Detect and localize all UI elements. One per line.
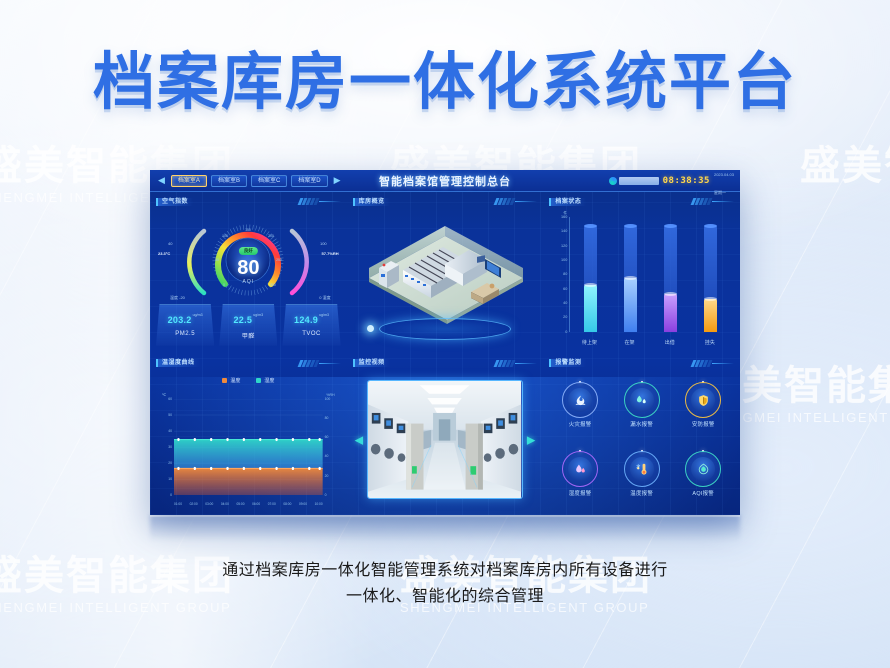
x-tick: 08:00 [283, 502, 291, 506]
temp-scale-top: 40 [168, 241, 172, 246]
humidity-readout: 57.7%RH [322, 251, 339, 256]
dashboard-topbar: ◀ 档案室A 档案室B 档案室C 档案室D ▶ 智能档案馆管理控制总台 08:3… [150, 170, 740, 192]
tab-room-c[interactable]: 档案室C [251, 175, 287, 187]
panel-header: 报警监测 [549, 358, 734, 369]
panel-body: ◀ [353, 371, 538, 510]
svg-text:50: 50 [215, 258, 219, 262]
hum-scale-top: 100 [320, 241, 327, 246]
y-tick: 20 [551, 315, 567, 319]
alarm-ring [562, 382, 598, 418]
bar-fill [704, 299, 717, 332]
alarm-label: 湿度报警 [569, 489, 592, 497]
watermark: 盛美智能集团 [800, 146, 890, 186]
bar-fill [664, 294, 677, 332]
topbar-right: 08:38:35 2023.04.03 星期一 [609, 170, 740, 199]
bar-column[interactable] [624, 217, 637, 332]
alarm-item-security[interactable]: 安防报警 [685, 382, 721, 428]
bar-category: 待上架 [574, 339, 604, 346]
aqi-badge: 良好 [239, 247, 258, 255]
alarm-core [568, 457, 592, 481]
alarm-ring [562, 451, 598, 487]
clock-date-day: 2023.04.03 [714, 172, 734, 177]
metric-value: 22.5 [233, 315, 252, 325]
x-axis-labels: 01:00 02:00 03:00 04:00 05:00 06:00 07:0… [174, 502, 323, 506]
y-tick: 0 [551, 330, 567, 334]
hum-scale-bottom: 0 湿度 [319, 295, 330, 301]
video-feed[interactable] [367, 380, 522, 499]
panel-title-archive-status: 档案状态 [549, 198, 586, 206]
panel-warehouse-overview: 库房概览 [347, 192, 544, 354]
caption-line-2: 一体化、智能化的综合管理 [0, 584, 890, 610]
panel-title-alarms: 报警监测 [549, 359, 586, 367]
y-tick-right: 60 [325, 435, 339, 439]
svg-text:250: 250 [276, 258, 282, 262]
panel-body: 温度 湿度 ℃ %RH 0 10 20 30 40 [156, 371, 341, 510]
aqi-gauge-wrap: 150 100 200 50 250 0 300 良好 80 AQI [156, 209, 341, 305]
metric-name: PM2.5 [156, 331, 214, 337]
bar-plot-area [569, 217, 730, 332]
alarm-label: 火灾报警 [569, 420, 592, 428]
clock-time: 08:38:35 [663, 176, 710, 186]
bar-column[interactable] [584, 217, 597, 332]
metric-unit: ug/m3 [253, 313, 263, 317]
alarm-ring [624, 451, 660, 487]
bar-fill [624, 278, 637, 332]
y-tick-right: 40 [325, 454, 339, 458]
panel-header: 库房概览 [353, 196, 538, 207]
room-tabs: ◀ 档案室A 档案室B 档案室C 档案室D ▶ [150, 175, 343, 187]
panel-title-air-quality: 空气指数 [156, 198, 193, 206]
metric-value: 203.2 [168, 315, 192, 325]
alarm-core [691, 457, 715, 481]
poster-caption: 通过档案库房一体化智能管理系统对档案库房内所有设备进行 一体化、智能化的综合管理 [0, 558, 890, 611]
chevron-right-icon[interactable]: ▶ [332, 176, 343, 185]
panel-body: 火灾报警 漏水报警 [549, 371, 734, 510]
alarm-core [630, 457, 654, 481]
env-curve-chart: 温度 湿度 ℃ %RH 0 10 20 30 40 [156, 371, 341, 510]
arrow-right-icon[interactable]: ▶ [527, 433, 535, 446]
brand-logo [609, 177, 659, 185]
svg-text:0: 0 [223, 283, 225, 287]
legend-swatch [222, 378, 227, 383]
alarm-label: 安防报警 [692, 420, 715, 428]
x-tick: 02:00 [190, 502, 198, 506]
header-decoration [299, 360, 341, 367]
dashboard-screen: ◀ 档案室A 档案室B 档案室C 档案室D ▶ 智能档案馆管理控制总台 08:3… [150, 170, 740, 515]
alarm-item-temperature[interactable]: 温度报警 [624, 451, 660, 497]
alarm-core [630, 388, 654, 412]
bar-column[interactable] [704, 217, 717, 332]
aqi-readout: 良好 80 AQI [237, 239, 259, 285]
warehouse-3d-model [359, 214, 531, 332]
svg-text:300: 300 [270, 283, 276, 287]
chart-legend: 温度 湿度 [156, 377, 341, 384]
headline-text: 档案库房一体化系统平台 [0, 52, 890, 114]
y-tick-left: 10 [158, 477, 172, 481]
alarm-ring [624, 382, 660, 418]
video-viewer: ◀ [353, 371, 538, 510]
y-tick-right: 20 [325, 474, 339, 478]
y-tick: 120 [551, 244, 567, 248]
panel-env-curve: 温湿度曲线 温度 湿度 ℃ %R [150, 354, 347, 516]
x-tick: 03:00 [205, 502, 213, 506]
legend-item-humidity[interactable]: 湿度 [256, 377, 274, 384]
header-decoration [495, 360, 537, 367]
bar-category: 在架 [615, 339, 645, 346]
x-tick: 10:00 [315, 502, 323, 506]
y-tick-right: 0 [325, 493, 339, 497]
x-tick: 01:00 [174, 502, 182, 506]
humidity-icon [574, 463, 587, 476]
y-tick-left: 30 [158, 445, 172, 449]
x-tick: 04:00 [221, 502, 229, 506]
thermometer-icon [635, 463, 648, 476]
metric-value-row: 22.5ug/m3 [219, 310, 277, 328]
header-decoration [495, 198, 537, 205]
alarm-item-aqi[interactable]: AQI报警 [685, 451, 721, 497]
page-title: 档案库房一体化系统平台 [0, 52, 890, 114]
panel-body: 件 0 20 40 60 80 100 120 140 160 [549, 209, 734, 348]
header-decoration [299, 198, 341, 205]
watermark-cn: 盛美智能集团 [800, 146, 890, 186]
metric-value-row: 203.2ug/m3 [156, 310, 214, 328]
arrow-left-icon[interactable]: ◀ [355, 433, 363, 446]
air-metric-cards: 203.2ug/m3 PM2.5 22.5ug/m3 甲醛 124.9ug/m3 [156, 304, 341, 346]
alarm-item-fire[interactable]: 火灾报警 [562, 382, 598, 428]
bar-chart-axis: 0 20 40 60 80 100 120 140 160 [569, 217, 730, 332]
panel-alarm-monitoring: 报警监测 火灾报警 [543, 354, 740, 516]
alarm-grid: 火灾报警 漏水报警 [549, 371, 734, 510]
panel-air-quality: 空气指数 [150, 192, 347, 354]
tab-room-b[interactable]: 档案室B [211, 175, 247, 187]
temp-scale-bottom: 温度 -20 [170, 295, 185, 301]
metric-name: TVOC [282, 331, 340, 337]
y-tick: 100 [551, 258, 567, 262]
archive-status-bar-chart: 件 0 20 40 60 80 100 120 140 160 [549, 209, 734, 348]
panel-body [353, 209, 538, 348]
y-tick-right: 80 [325, 416, 339, 420]
y-tick-left: 60 [158, 397, 172, 401]
alarm-ring [685, 451, 721, 487]
alarm-label: 漏水报警 [630, 420, 653, 428]
clock-date-weekday: 星期一 [714, 190, 726, 195]
stage-glow-dot [367, 325, 374, 332]
x-tick: 06:00 [252, 502, 260, 506]
shield-icon [697, 394, 710, 407]
metric-unit: ug/m3 [193, 313, 203, 317]
svg-text:200: 200 [268, 234, 274, 238]
alarm-ring [685, 382, 721, 418]
bar-category: 挂失 [695, 339, 725, 346]
tab-room-d[interactable]: 档案室D [291, 175, 327, 187]
panel-title-video: 监控视频 [353, 359, 390, 367]
alarm-label: 温度报警 [630, 489, 653, 497]
tab-room-a[interactable]: 档案室A [171, 175, 207, 187]
panel-header: 监控视频 [353, 358, 538, 369]
y-tick: 80 [551, 272, 567, 276]
chevron-left-icon[interactable]: ◀ [156, 176, 167, 185]
logo-wordmark [619, 177, 659, 185]
y-tick-left: 40 [158, 429, 172, 433]
y-tick-left: 20 [158, 461, 172, 465]
env-curve-svg [174, 399, 323, 496]
metric-card-formaldehyde[interactable]: 22.5ug/m3 甲醛 [219, 304, 277, 346]
legend-item-temperature[interactable]: 温度 [222, 377, 240, 384]
y-tick: 160 [551, 215, 567, 219]
alarm-label: AQI报警 [692, 489, 714, 497]
board-reflection [150, 515, 740, 541]
bar-category-labels: 待上架 在架 出借 挂失 [569, 339, 730, 346]
x-tick: 05:00 [237, 502, 245, 506]
alarm-item-humidity[interactable]: 湿度报警 [562, 451, 598, 497]
bar-category: 出借 [655, 339, 685, 346]
aqi-value: 80 [237, 258, 259, 279]
legend-label: 湿度 [264, 377, 274, 384]
panel-video-monitoring: 监控视频 ◀ [347, 354, 544, 516]
env-plot-area: 0 10 20 30 40 50 60 0 20 40 60 80 100 [174, 399, 323, 496]
leaf-icon [697, 463, 710, 476]
panel-grid: 空气指数 [150, 192, 740, 515]
bar-column[interactable] [664, 217, 677, 332]
fire-icon [574, 394, 587, 407]
warehouse-3d-view[interactable] [353, 209, 538, 348]
y-tick-left: 0 [158, 493, 172, 497]
metric-unit: ug/m3 [319, 313, 329, 317]
y-tick: 140 [551, 229, 567, 233]
svg-text:100: 100 [222, 234, 228, 238]
legend-label: 温度 [230, 377, 240, 384]
svg-text:150: 150 [245, 228, 251, 232]
alarm-item-water-leak[interactable]: 漏水报警 [624, 382, 660, 428]
temperature-readout: 23.3°C [158, 251, 170, 256]
header-decoration [692, 360, 734, 367]
metric-name: 甲醛 [219, 331, 277, 340]
clock-date: 2023.04.03 星期一 [714, 170, 734, 199]
panel-title-warehouse: 库房概览 [353, 198, 390, 206]
alarm-core [691, 388, 715, 412]
metric-value-row: 124.9ug/m3 [282, 310, 340, 328]
metric-value: 124.9 [294, 315, 318, 325]
panel-archive-status: 档案状态 件 0 20 40 60 80 100 120 140 160 [543, 192, 740, 354]
y-tick-left: 50 [158, 413, 172, 417]
x-tick: 07:00 [268, 502, 276, 506]
caption-line-1: 通过档案库房一体化智能管理系统对档案库房内所有设备进行 [0, 558, 890, 584]
logo-mark-icon [609, 177, 617, 185]
water-drop-icon [635, 394, 648, 407]
alarm-core [568, 388, 592, 412]
panel-header: 空气指数 [156, 196, 341, 207]
metric-card-pm25[interactable]: 203.2ug/m3 PM2.5 [156, 304, 214, 346]
legend-swatch [256, 378, 261, 383]
x-tick: 09:00 [299, 502, 307, 506]
y-tick: 60 [551, 287, 567, 291]
aqi-unit-label: AQI [237, 279, 259, 285]
panel-body: 150 100 200 50 250 0 300 良好 80 AQI [156, 209, 341, 348]
stage-ring [379, 318, 511, 340]
y-tick-right: 100 [325, 397, 339, 401]
panel-header: 温湿度曲线 [156, 358, 341, 369]
header-decoration [692, 198, 734, 205]
y-tick: 40 [551, 301, 567, 305]
bar-fill [584, 285, 597, 331]
metric-card-tvoc[interactable]: 124.9ug/m3 TVOC [282, 304, 340, 346]
video-feed-image [368, 381, 521, 498]
panel-title-env-curve: 温湿度曲线 [156, 359, 200, 367]
